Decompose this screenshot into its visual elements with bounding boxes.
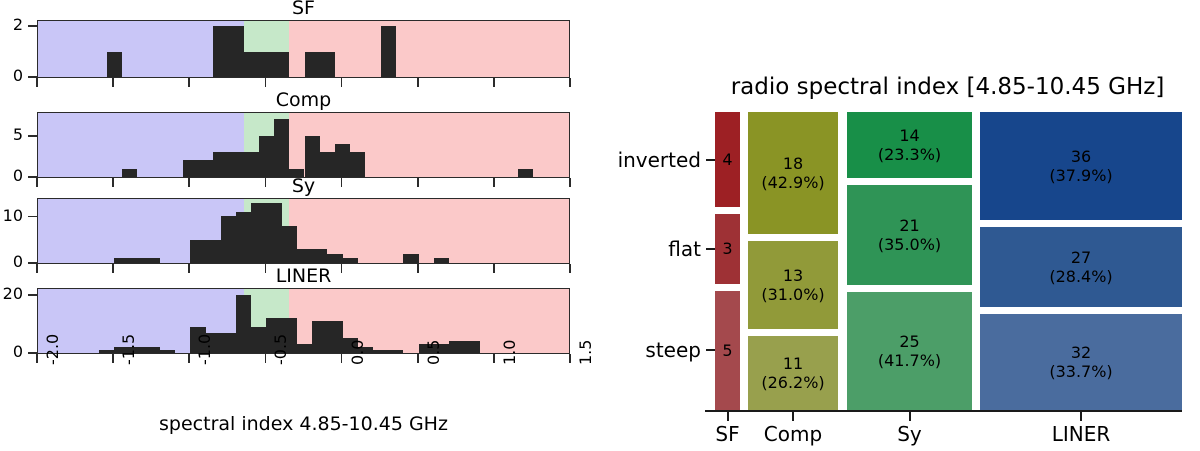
histogram-bar bbox=[236, 212, 251, 263]
histogram-bar bbox=[221, 333, 236, 353]
figure-root: SF02Comp05Sy010LINER020-2.0-1.5-1.0-0.50… bbox=[0, 0, 1200, 451]
histogram-bar bbox=[259, 52, 274, 77]
mosaic-cell-label: 25 (41.7%) bbox=[878, 332, 941, 370]
histogram-bar bbox=[373, 350, 388, 353]
histogram-bar bbox=[350, 152, 365, 177]
histogram-bar bbox=[183, 160, 198, 177]
mosaic-cell-label: 4 bbox=[722, 150, 732, 169]
mosaic-col-label-sy: Sy bbox=[840, 424, 980, 444]
x-tick-mark bbox=[417, 78, 419, 87]
x-tick-mark bbox=[36, 78, 38, 87]
x-tick-mark bbox=[493, 354, 495, 363]
mosaic-cell-sf-inverted[interactable]: 4 bbox=[715, 112, 740, 207]
histogram-bar bbox=[160, 350, 175, 353]
histogram-bar bbox=[305, 52, 320, 77]
histogram-bar bbox=[274, 52, 289, 77]
histogram-bar bbox=[206, 240, 221, 263]
x-tick-mark bbox=[112, 354, 114, 363]
x-tick-label: 0.5 bbox=[426, 340, 442, 365]
histogram-bar bbox=[343, 258, 358, 263]
mosaic-title: radio spectral index [4.85-10.45 GHz] bbox=[695, 76, 1200, 99]
x-tick-mark bbox=[417, 354, 419, 363]
x-tick-mark bbox=[265, 78, 267, 87]
x-tick-mark bbox=[569, 354, 571, 363]
mosaic-col-label-liner: LINER bbox=[1011, 424, 1151, 444]
histogram-bar bbox=[213, 152, 228, 177]
histogram-bar bbox=[228, 26, 243, 77]
histogram-axes-comp bbox=[37, 112, 570, 178]
mosaic-baseline bbox=[705, 410, 1182, 412]
mosaic-row-tick bbox=[706, 248, 715, 250]
mosaic-row-label-inverted: inverted bbox=[600, 150, 701, 170]
mosaic-panel: radio spectral index [4.85-10.45 GHz] 43… bbox=[600, 0, 1200, 451]
x-tick-mark bbox=[265, 354, 267, 363]
mosaic-cell-comp-steep[interactable]: 11 (26.2%) bbox=[748, 336, 838, 410]
x-tick-label: 0.0 bbox=[350, 340, 366, 365]
plot-title-comp: Comp bbox=[37, 91, 570, 110]
histogram-axes-liner bbox=[37, 288, 570, 354]
x-tick-mark bbox=[112, 78, 114, 87]
histogram-bar bbox=[251, 327, 266, 353]
histogram-bar bbox=[312, 321, 327, 353]
histogram-bar bbox=[145, 347, 160, 353]
x-tick-label: -1.0 bbox=[197, 334, 213, 365]
y-tick-label: 20 bbox=[0, 286, 23, 302]
histogram-bar bbox=[114, 258, 129, 263]
histogram-bar bbox=[244, 52, 259, 77]
mosaic-cell-comp-flat[interactable]: 13 (31.0%) bbox=[748, 241, 838, 329]
mosaic-cell-label: 27 (28.4%) bbox=[1049, 248, 1112, 286]
histogram-bar bbox=[213, 26, 228, 77]
y-tick-label: 2 bbox=[0, 17, 23, 33]
histogram-axes-sf bbox=[37, 20, 570, 78]
x-tick-label: -0.5 bbox=[273, 334, 289, 365]
y-tick-label: 0 bbox=[0, 68, 23, 84]
y-tick-label: 0 bbox=[0, 344, 23, 360]
x-tick-mark bbox=[341, 354, 343, 363]
histogram-bar bbox=[244, 152, 259, 177]
x-tick-mark bbox=[188, 78, 190, 87]
histogram-bar bbox=[327, 254, 342, 263]
mosaic-row-tick bbox=[706, 349, 715, 351]
histogram-bar bbox=[297, 344, 312, 353]
y-tick-mark bbox=[28, 135, 37, 137]
mosaic-cell-label: 32 (33.7%) bbox=[1049, 343, 1112, 381]
mosaic-cell-label: 11 (26.2%) bbox=[761, 354, 824, 392]
histogram-bar bbox=[221, 216, 236, 263]
histogram-bar bbox=[297, 249, 312, 263]
histogram-bar bbox=[464, 341, 479, 353]
mosaic-cell-sy-inverted[interactable]: 14 (23.3%) bbox=[847, 112, 972, 178]
x-tick-label: -1.5 bbox=[121, 334, 137, 365]
histogram-bar bbox=[320, 52, 335, 77]
mosaic-cell-liner-inverted[interactable]: 36 (37.9%) bbox=[980, 112, 1182, 220]
y-tick-mark bbox=[28, 294, 37, 296]
histogram-bar bbox=[312, 249, 327, 263]
mosaic-cell-label: 5 bbox=[722, 341, 732, 360]
histogram-bar bbox=[305, 136, 320, 177]
mosaic-row-label-steep: steep bbox=[600, 340, 701, 360]
plot-title-liner: LINER bbox=[37, 267, 570, 286]
x-axis-title: spectral index 4.85-10.45 GHz bbox=[37, 415, 570, 434]
mosaic-cell-liner-steep[interactable]: 32 (33.7%) bbox=[980, 314, 1182, 410]
histogram-bar bbox=[190, 240, 205, 263]
histogram-panel: SF02Comp05Sy010LINER020-2.0-1.5-1.0-0.50… bbox=[0, 0, 600, 451]
y-tick-label: 0 bbox=[0, 254, 23, 270]
histogram-bar bbox=[320, 152, 335, 177]
plot-title-sy: Sy bbox=[37, 177, 570, 196]
histogram-bar bbox=[122, 169, 137, 177]
x-tick-label: 1.0 bbox=[502, 340, 518, 365]
histogram-bar bbox=[282, 226, 297, 263]
y-tick-label: 5 bbox=[0, 127, 23, 143]
x-tick-mark bbox=[569, 78, 571, 87]
histogram-bar bbox=[236, 295, 251, 353]
y-tick-label: 10 bbox=[0, 208, 23, 224]
histogram-bar bbox=[99, 350, 114, 353]
x-tick-mark bbox=[493, 78, 495, 87]
mosaic-col-tick bbox=[909, 412, 911, 421]
histogram-bar bbox=[259, 136, 274, 177]
histogram-bar bbox=[274, 119, 289, 177]
histogram-bar bbox=[518, 169, 533, 177]
mosaic-cell-sf-flat[interactable]: 3 bbox=[715, 214, 740, 284]
mosaic-cell-sf-steep[interactable]: 5 bbox=[715, 291, 740, 410]
y-tick-mark bbox=[28, 25, 37, 27]
histogram-bar bbox=[388, 350, 403, 353]
histogram-bar bbox=[434, 258, 449, 263]
mosaic-row-tick bbox=[706, 159, 715, 161]
mosaic-cell-label: 21 (35.0%) bbox=[878, 216, 941, 254]
mosaic-cell-comp-inverted[interactable]: 18 (42.9%) bbox=[748, 112, 838, 234]
mosaic-row-label-flat: flat bbox=[600, 239, 701, 259]
histogram-bar bbox=[145, 258, 160, 263]
histogram-bar bbox=[381, 26, 396, 77]
mosaic-col-tick bbox=[727, 412, 729, 421]
mosaic-cell-label: 13 (31.0%) bbox=[761, 266, 824, 304]
histogram-axes-sy bbox=[37, 198, 570, 264]
mosaic-cell-sy-steep[interactable]: 25 (41.7%) bbox=[847, 292, 972, 410]
mosaic-cell-liner-flat[interactable]: 27 (28.4%) bbox=[980, 227, 1182, 308]
histogram-bar bbox=[266, 203, 281, 263]
histogram-bar bbox=[198, 160, 213, 177]
x-tick-mark bbox=[36, 354, 38, 363]
mosaic-cell-label: 18 (42.9%) bbox=[761, 154, 824, 192]
mosaic-col-tick bbox=[1080, 412, 1082, 421]
histogram-bar bbox=[327, 321, 342, 353]
histogram-bar bbox=[228, 152, 243, 177]
x-tick-mark bbox=[188, 354, 190, 363]
plot-title-sf: SF bbox=[37, 0, 570, 18]
histogram-bar bbox=[251, 203, 266, 263]
mosaic-col-tick bbox=[792, 412, 794, 421]
mosaic-cell-label: 36 (37.9%) bbox=[1049, 147, 1112, 185]
x-tick-mark bbox=[341, 78, 343, 87]
x-tick-label: -2.0 bbox=[45, 334, 61, 365]
x-tick-label: 1.5 bbox=[578, 340, 594, 365]
histogram-bar bbox=[403, 254, 418, 263]
mosaic-cell-sy-flat[interactable]: 21 (35.0%) bbox=[847, 185, 972, 284]
mosaic-cell-label: 14 (23.3%) bbox=[878, 126, 941, 164]
mosaic-cell-label: 3 bbox=[722, 239, 732, 258]
histogram-bar bbox=[129, 258, 144, 263]
histogram-bar bbox=[107, 52, 122, 77]
histogram-bar bbox=[335, 144, 350, 177]
histogram-bar bbox=[449, 341, 464, 353]
y-tick-mark bbox=[28, 216, 37, 218]
y-tick-label: 0 bbox=[0, 168, 23, 184]
